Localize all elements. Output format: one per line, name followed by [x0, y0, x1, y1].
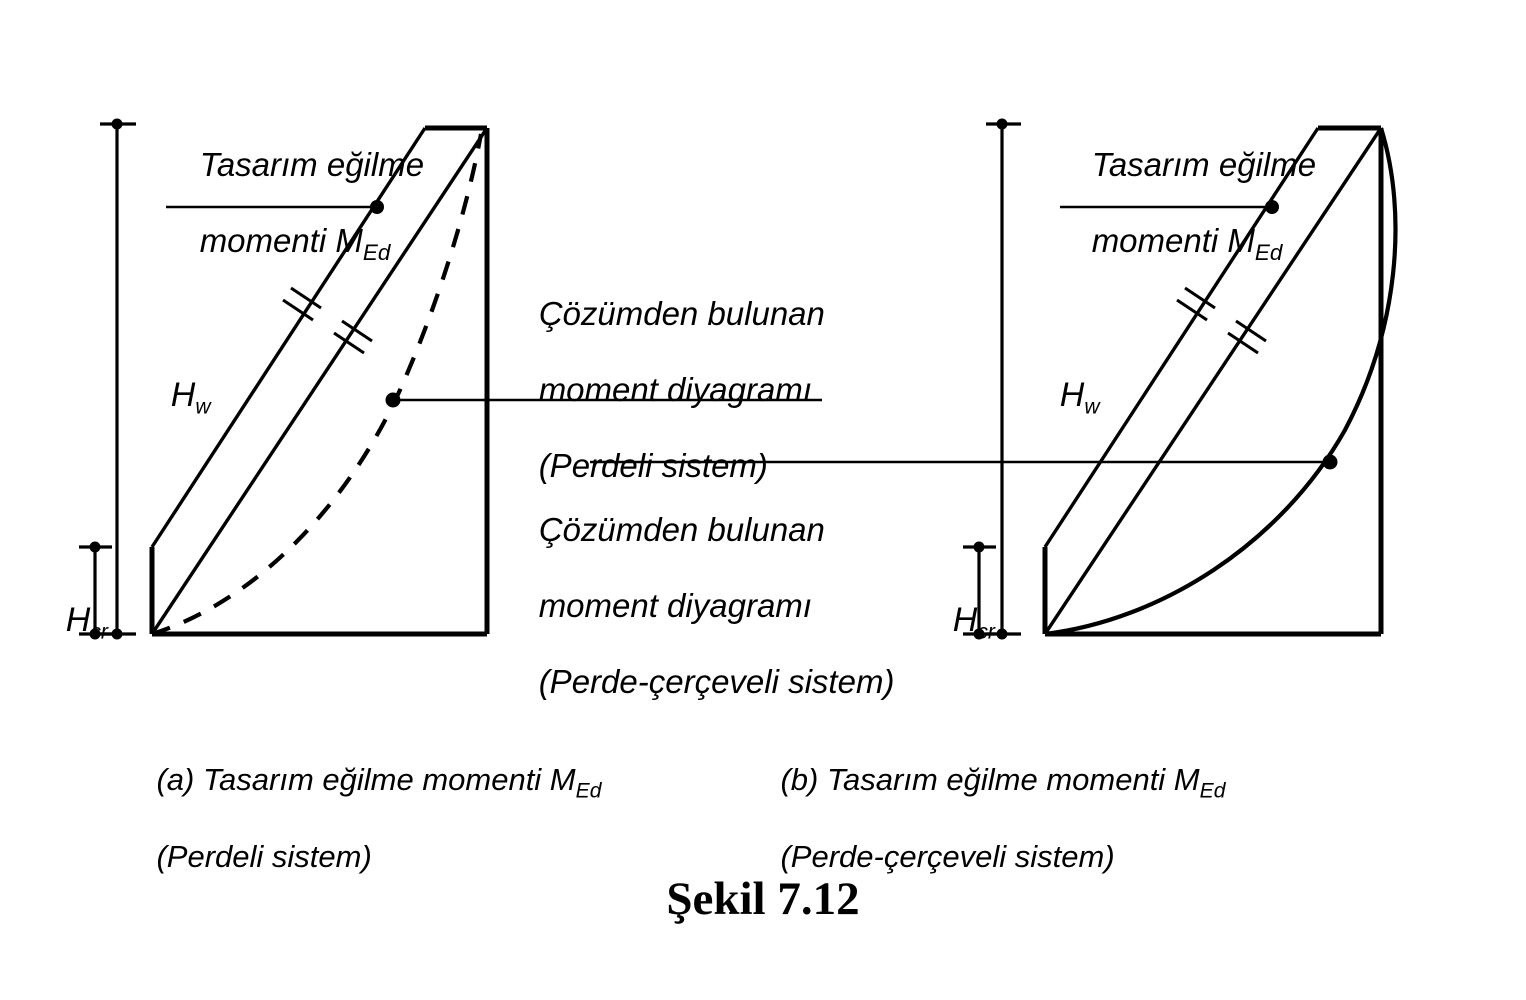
panel-b-caption-subscript: Ed [1200, 779, 1226, 802]
panel-b-hw-label: Hw [1022, 337, 1100, 459]
panel-b-caption-line1: (b) Tasarım eğilme momenti M [780, 762, 1199, 797]
panel-a-design-moment-label: Tasarım eğilme momenti MEd [163, 108, 424, 303]
panel-b-hw-subscript: w [1084, 395, 1099, 418]
panel-a-caption-line1: (a) Tasarım eğilme momenti M [156, 762, 575, 797]
annotation-perdeli-line1: Çözümden bulunan [539, 295, 825, 332]
annotation-perde-cerceveli-sistem: Çözümden bulunan moment diyagramı (Perde… [502, 473, 894, 739]
panel-a-hcr-subscript: cr [90, 620, 108, 643]
panel-a-hcr-symbol: H [66, 601, 91, 639]
panel-a-caption-subscript: Ed [576, 779, 602, 802]
panel-a-hcr-label: Hcr [28, 562, 108, 684]
panel-a-caption-line2: (Perdeli sistem) [156, 839, 371, 874]
figure-title: Şekil 7.12 [0, 872, 1526, 926]
annotation-perde-cerceveli-line2: moment diyagramı [539, 587, 812, 624]
panel-b-caption-line2: (Perde-çerçeveli sistem) [780, 839, 1114, 874]
panel-a-design-moment-subscript: Ed [363, 240, 390, 265]
panel-b-hcr-label: Hcr [915, 562, 995, 684]
panel-a-design-moment-line1: Tasarım eğilme [200, 146, 424, 183]
annotation-perdeli-line2: moment diyagramı [539, 371, 812, 408]
figure-root: Tasarım eğilme momenti MEd Hw Hcr Çözümd… [0, 0, 1526, 1000]
panel-b-design-moment-subscript: Ed [1255, 240, 1282, 265]
panel-b-hw-symbol: H [1060, 376, 1085, 414]
panel-b-hcr-symbol: H [953, 601, 978, 639]
panel-a-hw-subscript: w [195, 395, 210, 418]
panel-a-hw-symbol: H [171, 376, 196, 414]
panel-b-design-moment-line2: momenti M [1092, 222, 1255, 259]
panel-b-hcr-subscript: cr [977, 620, 995, 643]
panel-a-design-moment-line2: momenti M [200, 222, 363, 259]
panel-b-design-moment-label: Tasarım eğilme momenti MEd [1055, 108, 1316, 303]
annotation-perde-cerceveli-line3: (Perde-çerçeveli sistem) [539, 663, 895, 700]
panel-b-design-moment-line1: Tasarım eğilme [1092, 146, 1316, 183]
annotation-perde-cerceveli-line1: Çözümden bulunan [539, 511, 825, 548]
panel-a-hw-label: Hw [133, 337, 211, 459]
